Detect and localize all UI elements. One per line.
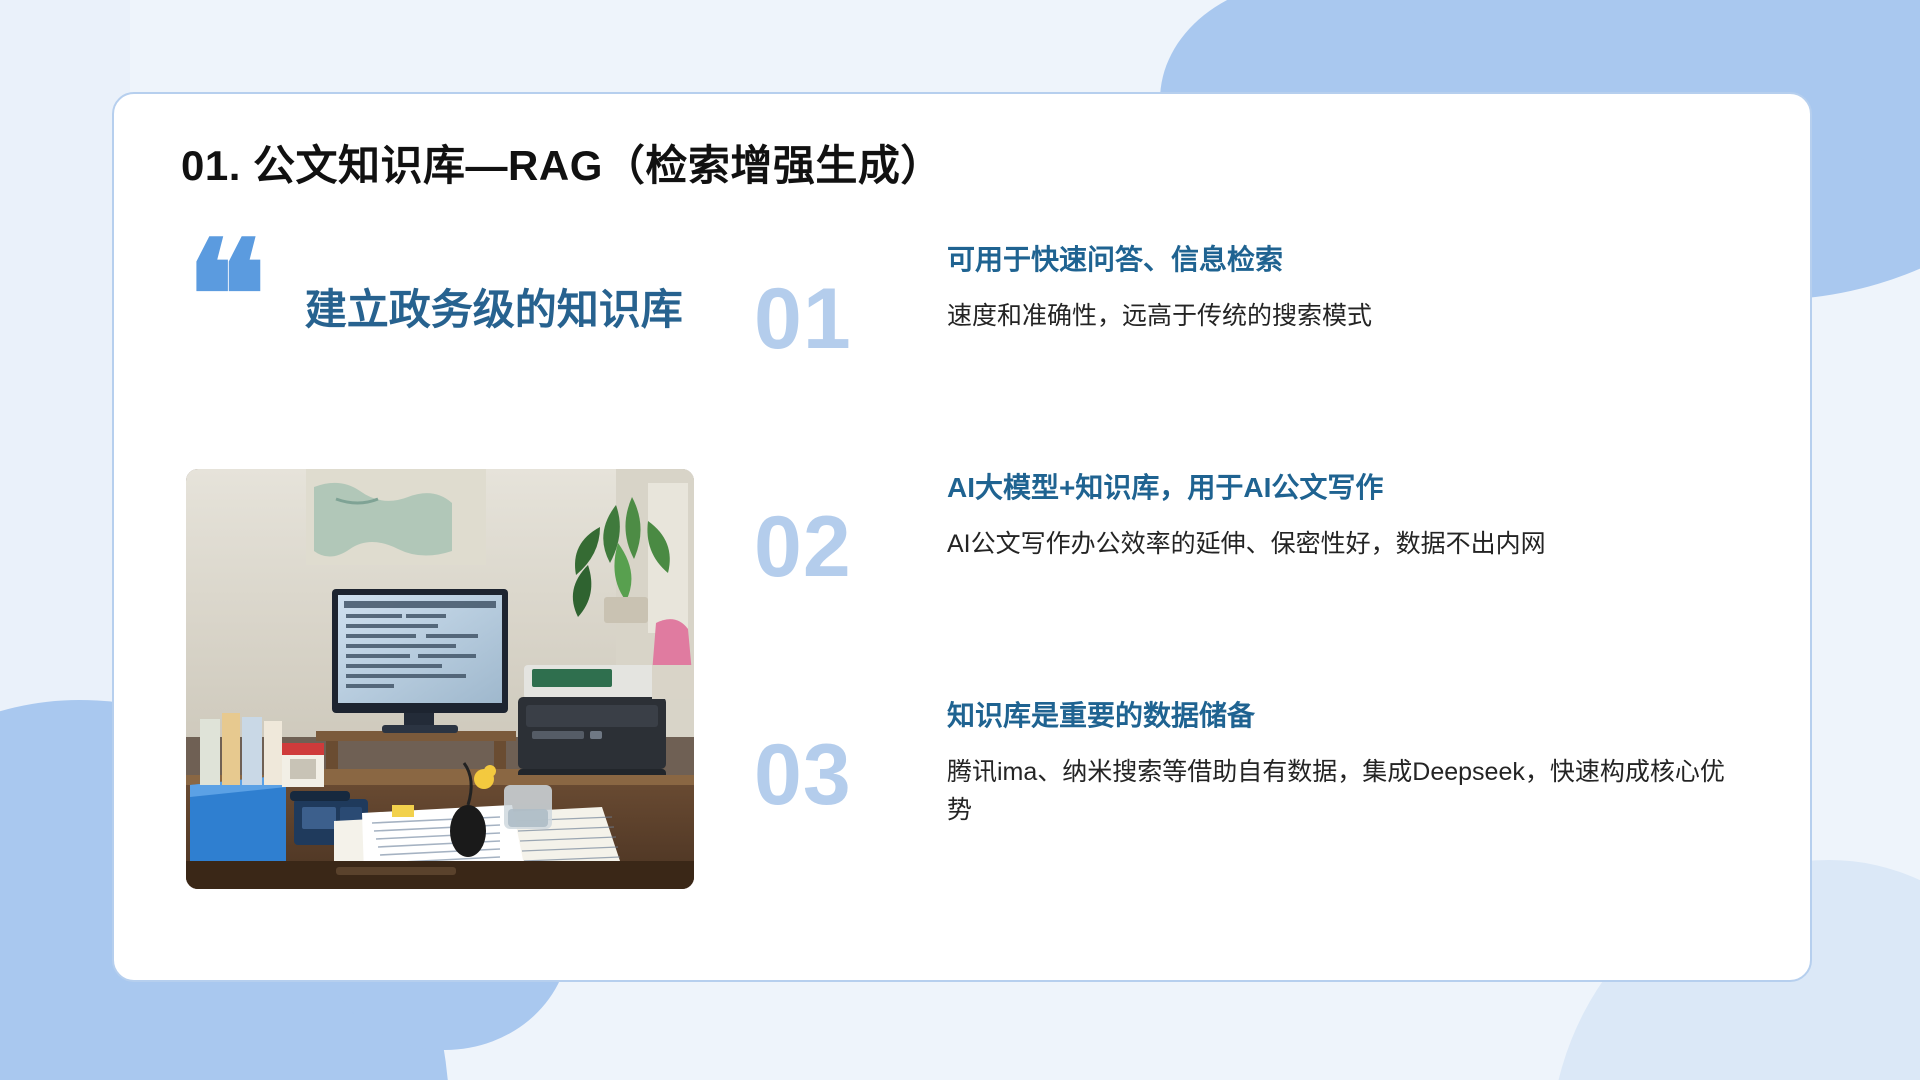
item-number: 02 [754,504,944,590]
item-number: 03 [754,732,944,818]
item-content: AI大模型+知识库，用于AI公文写作 AI公文写作办公效率的延伸、保密性好，数据… [947,470,1737,563]
item-number: 01 [754,276,944,362]
item-heading: 可用于快速问答、信息检索 [947,242,1737,278]
lead-statement-group: ❝ 建立政务级的知识库 [186,250,683,343]
page-title: 01. 公文知识库—RAG（检索增强生成） [181,132,943,193]
item-description: 速度和准确性，远高于传统的搜索模式 [947,297,1737,335]
list-item: 03 知识库是重要的数据储备 腾讯ima、纳米搜索等借助自有数据，集成Deeps… [754,698,1754,926]
list-item: 01 可用于快速问答、信息检索 速度和准确性，远高于传统的搜索模式 [754,242,1754,470]
item-content: 知识库是重要的数据储备 腾讯ima、纳米搜索等借助自有数据，集成Deepseek… [947,698,1737,829]
item-content: 可用于快速问答、信息检索 速度和准确性，远高于传统的搜索模式 [947,242,1737,335]
feature-list: 01 可用于快速问答、信息检索 速度和准确性，远高于传统的搜索模式 02 AI大… [754,242,1754,926]
quote-mark-icon: ❝ [186,250,267,343]
lead-statement-text: 建立政务级的知识库 [305,276,683,337]
item-description: AI公文写作办公效率的延伸、保密性好，数据不出内网 [947,525,1737,563]
item-heading: AI大模型+知识库，用于AI公文写作 [947,470,1737,506]
item-heading: 知识库是重要的数据储备 [947,698,1737,734]
list-item: 02 AI大模型+知识库，用于AI公文写作 AI公文写作办公效率的延伸、保密性好… [754,470,1754,698]
office-desk-photo: brother [186,469,694,889]
slide-card: 01. 公文知识库—RAG（检索增强生成） ❝ 建立政务级的知识库 [112,92,1812,982]
item-description: 腾讯ima、纳米搜索等借助自有数据，集成Deepseek，快速构成核心优势 [947,753,1737,829]
